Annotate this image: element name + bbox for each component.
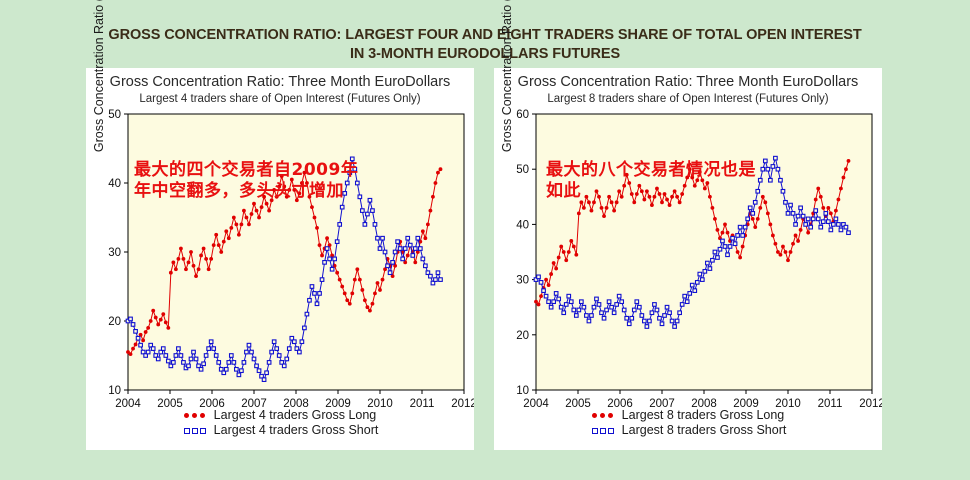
svg-text:50: 50 xyxy=(108,109,121,121)
screenshot-root: GROSS CONCENTRATION RATIO: LARGEST FOUR … xyxy=(0,0,970,480)
chart-subtitle-largest-8: Largest 8 traders share of Open Interest… xyxy=(494,92,882,106)
chart-annotation-largest-4: 最大的四个交易者自2009年 年中空翻多，多头头寸增加 xyxy=(134,160,358,202)
chart-title-largest-4: Gross Concentration Ratio: Three Month E… xyxy=(86,74,474,91)
plot-area-largest-8: 1020304050602004200520062007200820092010… xyxy=(494,106,882,424)
legend-item-long: Largest 8 traders Gross Long xyxy=(590,408,787,423)
legend-marker-circles-icon xyxy=(590,410,620,421)
svg-text:10: 10 xyxy=(108,385,121,397)
svg-text:40: 40 xyxy=(108,178,121,190)
y-axis-label: Gross Concentration Ratio (%) xyxy=(500,0,514,182)
svg-text:40: 40 xyxy=(516,219,529,231)
legend-largest-4: Largest 4 traders Gross Long Largest 4 t… xyxy=(86,408,474,440)
chart-panel-largest-4: Gross Concentration Ratio: Three Month E… xyxy=(86,68,474,450)
legend-label-long: Largest 8 traders Gross Long xyxy=(622,408,785,423)
svg-text:10: 10 xyxy=(516,385,529,397)
chart-svg-largest-8: 1020304050602004200520062007200820092010… xyxy=(494,106,882,424)
chart-title-largest-8: Gross Concentration Ratio: Three Month E… xyxy=(494,74,882,91)
legend-marker-squares-icon xyxy=(590,425,620,436)
chart-annotation-largest-8: 最大的八个交易者情况也是 如此 xyxy=(546,160,756,202)
chart-panel-largest-8: Gross Concentration Ratio: Three Month E… xyxy=(494,68,882,450)
legend-item-short: Largest 4 traders Gross Short xyxy=(182,423,379,438)
svg-text:20: 20 xyxy=(108,316,121,328)
legend-item-long: Largest 4 traders Gross Long xyxy=(182,408,379,423)
legend-label-short: Largest 8 traders Gross Short xyxy=(622,423,787,438)
svg-text:60: 60 xyxy=(516,109,529,121)
svg-text:30: 30 xyxy=(108,247,121,259)
legend-label-short: Largest 4 traders Gross Short xyxy=(214,423,379,438)
svg-text:20: 20 xyxy=(516,330,529,342)
legend-label-long: Largest 4 traders Gross Long xyxy=(214,408,377,423)
svg-text:30: 30 xyxy=(516,275,529,287)
page-title: GROSS CONCENTRATION RATIO: LARGEST FOUR … xyxy=(0,26,970,64)
plot-area-largest-4: 1020304050200420052006200720082009201020… xyxy=(86,106,474,424)
y-axis-label: Gross Concentration Ratio (%) xyxy=(92,0,106,182)
legend-marker-circles-icon xyxy=(182,410,212,421)
page-title-line2: IN 3-MONTH EURODOLLARS FUTURES xyxy=(0,45,970,64)
legend-item-short: Largest 8 traders Gross Short xyxy=(590,423,787,438)
chart-svg-largest-4: 1020304050200420052006200720082009201020… xyxy=(86,106,474,424)
svg-text:50: 50 xyxy=(516,164,529,176)
page-title-line1: GROSS CONCENTRATION RATIO: LARGEST FOUR … xyxy=(0,26,970,45)
chart-subtitle-largest-4: Largest 4 traders share of Open Interest… xyxy=(86,92,474,106)
legend-marker-squares-icon xyxy=(182,425,212,436)
legend-largest-8: Largest 8 traders Gross Long Largest 8 t… xyxy=(494,408,882,440)
